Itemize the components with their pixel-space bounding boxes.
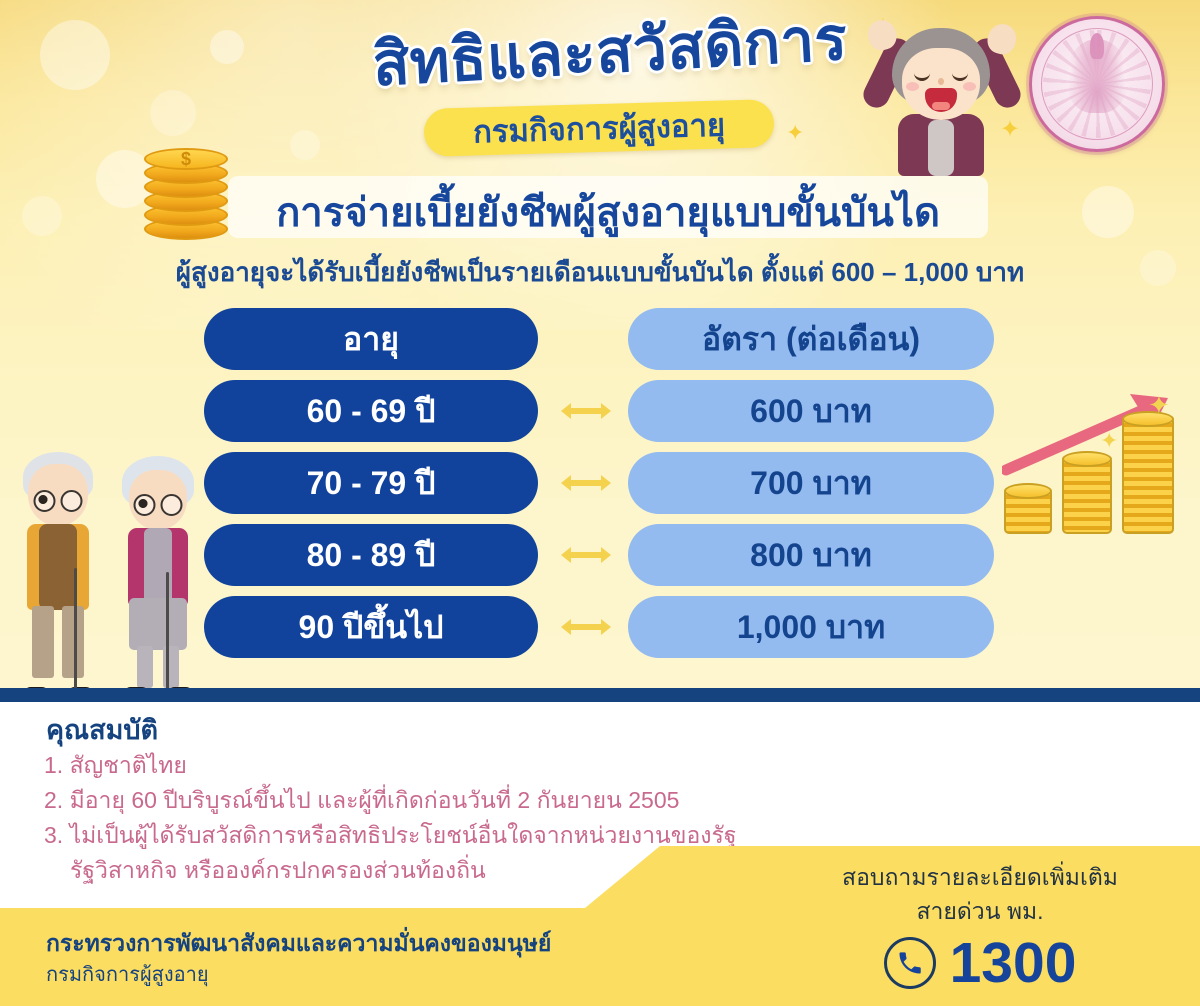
man-legs bbox=[30, 606, 86, 678]
granny-cheek-left bbox=[906, 82, 919, 91]
sparkle-icon: ✦ bbox=[1100, 430, 1118, 452]
hotline-label-line2: สายด่วน พม. bbox=[780, 894, 1180, 930]
elderly-woman bbox=[112, 450, 204, 700]
column-header-rate: อัตรา (ต่อเดือน) bbox=[628, 308, 994, 370]
lens-right bbox=[161, 494, 183, 516]
page-subtitle-banner: กรมกิจการผู้สูงอายุ bbox=[423, 99, 774, 157]
double-arrow-icon bbox=[544, 380, 628, 442]
granny-cheek-right bbox=[963, 82, 976, 91]
column-header-age: อายุ bbox=[204, 308, 538, 370]
qualification-text: 1. สัญชาติไทย bbox=[44, 752, 187, 778]
hotline-label-line1: สอบถามรายละเอียดเพิ่มเติม bbox=[780, 860, 1180, 896]
table-header-row: อายุ อัตรา (ต่อเดือน) bbox=[204, 308, 994, 370]
lens-right bbox=[61, 490, 83, 512]
hotline-row[interactable]: 1300 bbox=[780, 928, 1180, 998]
man-glasses-icon bbox=[34, 490, 83, 512]
bokeh-circle bbox=[22, 196, 62, 236]
granny-mouth bbox=[925, 88, 957, 112]
sparkle-icon: ✦ bbox=[1148, 392, 1170, 418]
double-arrow-icon bbox=[544, 524, 628, 586]
bokeh-circle bbox=[40, 20, 110, 90]
ministry-seal-icon bbox=[1029, 16, 1165, 152]
hotline-number: 1300 bbox=[950, 935, 1077, 992]
cell-age: 70 - 79 ปี bbox=[204, 452, 538, 514]
granny-eye-left bbox=[914, 72, 930, 81]
phone-icon[interactable] bbox=[884, 937, 936, 989]
table-row: 60 - 69 ปี 600 บาท bbox=[204, 380, 994, 442]
table-row: 80 - 89 ปี 800 บาท bbox=[204, 524, 994, 586]
table-row: 90 ปีขึ้นไป 1,000 บาท bbox=[204, 596, 994, 658]
main-heading: การจ่ายเบี้ยยังชีพผู้สูงอายุแบบขั้นบันได bbox=[228, 180, 988, 244]
dollar-sign-icon: $ bbox=[138, 148, 234, 170]
elderly-man bbox=[12, 448, 104, 700]
bokeh-circle bbox=[210, 30, 244, 64]
qualifications-title: คุณสมบัติ bbox=[46, 708, 158, 751]
granny-body bbox=[898, 114, 984, 176]
table-row: 70 - 79 ปี 700 บาท bbox=[204, 452, 994, 514]
section-divider bbox=[0, 688, 1200, 702]
ministry-name: กระทรวงการพัฒนาสังคมและความมั่นคงของมนุษ… bbox=[46, 926, 551, 962]
page-subtitle: กรมกิจการผู้สูงอายุ bbox=[423, 99, 774, 157]
elderly-couple-illustration bbox=[6, 436, 206, 700]
woman-skirt bbox=[129, 598, 187, 650]
double-arrow-icon bbox=[544, 452, 628, 514]
bokeh-circle bbox=[150, 90, 196, 136]
granny-nose bbox=[938, 78, 944, 85]
bokeh-circle bbox=[1140, 250, 1176, 286]
coin-stack-small bbox=[1004, 488, 1052, 534]
cheering-elderly-woman-illustration bbox=[846, 6, 1036, 174]
cell-rate: 700 บาท bbox=[628, 452, 994, 514]
man-vest bbox=[39, 524, 77, 610]
benefit-rate-table: อายุ อัตรา (ต่อเดือน) 60 - 69 ปี 600 บาท… bbox=[204, 308, 994, 668]
bokeh-circle bbox=[290, 130, 320, 160]
star-icon: ✦ bbox=[786, 122, 804, 144]
bokeh-circle bbox=[1082, 186, 1134, 238]
woman-glasses-icon bbox=[134, 494, 183, 516]
cell-rate: 1,000 บาท bbox=[628, 596, 994, 658]
infographic-poster: สิทธิและสวัสดิการ กรมกิจการผู้สูงอายุ ✦ … bbox=[0, 0, 1200, 1006]
coin-stack-large bbox=[1122, 416, 1174, 534]
man-cane bbox=[74, 568, 77, 694]
list-item: 1. สัญชาติไทย bbox=[44, 748, 864, 783]
cell-age: 60 - 69 ปี bbox=[204, 380, 538, 442]
woman-cane bbox=[166, 572, 169, 696]
coin-stack-icon: $ bbox=[138, 146, 234, 250]
list-item: 2. มีอายุ 60 ปีบริบูรณ์ขึ้นไป และผู้ที่เ… bbox=[44, 783, 864, 818]
seal-rays bbox=[1043, 30, 1151, 138]
woman-legs bbox=[133, 646, 183, 688]
coin-growth-chart-illustration: ✦ ✦ bbox=[1000, 382, 1185, 542]
cell-age: 90 ปีขึ้นไป bbox=[204, 596, 538, 658]
cell-age: 80 - 89 ปี bbox=[204, 524, 538, 586]
double-arrow-icon bbox=[544, 596, 628, 658]
heading-note: ผู้สูงอายุจะได้รับเบี้ยยังชีพเป็นรายเดือ… bbox=[60, 252, 1140, 293]
coin-stack-medium bbox=[1062, 456, 1112, 534]
qualification-text: 2. มีอายุ 60 ปีบริบูรณ์ขึ้นไป และผู้ที่เ… bbox=[44, 787, 679, 813]
qualification-text: 3. ไม่เป็นผู้ได้รับสวัสดิการหรือสิทธิประ… bbox=[44, 822, 737, 848]
cell-rate: 800 บาท bbox=[628, 524, 994, 586]
department-name: กรมกิจการผู้สูงอายุ bbox=[46, 958, 209, 990]
granny-eye-right bbox=[952, 72, 968, 81]
granny-face bbox=[902, 48, 980, 120]
seal-deity-figure bbox=[1066, 39, 1128, 113]
cell-rate: 600 บาท bbox=[628, 380, 994, 442]
